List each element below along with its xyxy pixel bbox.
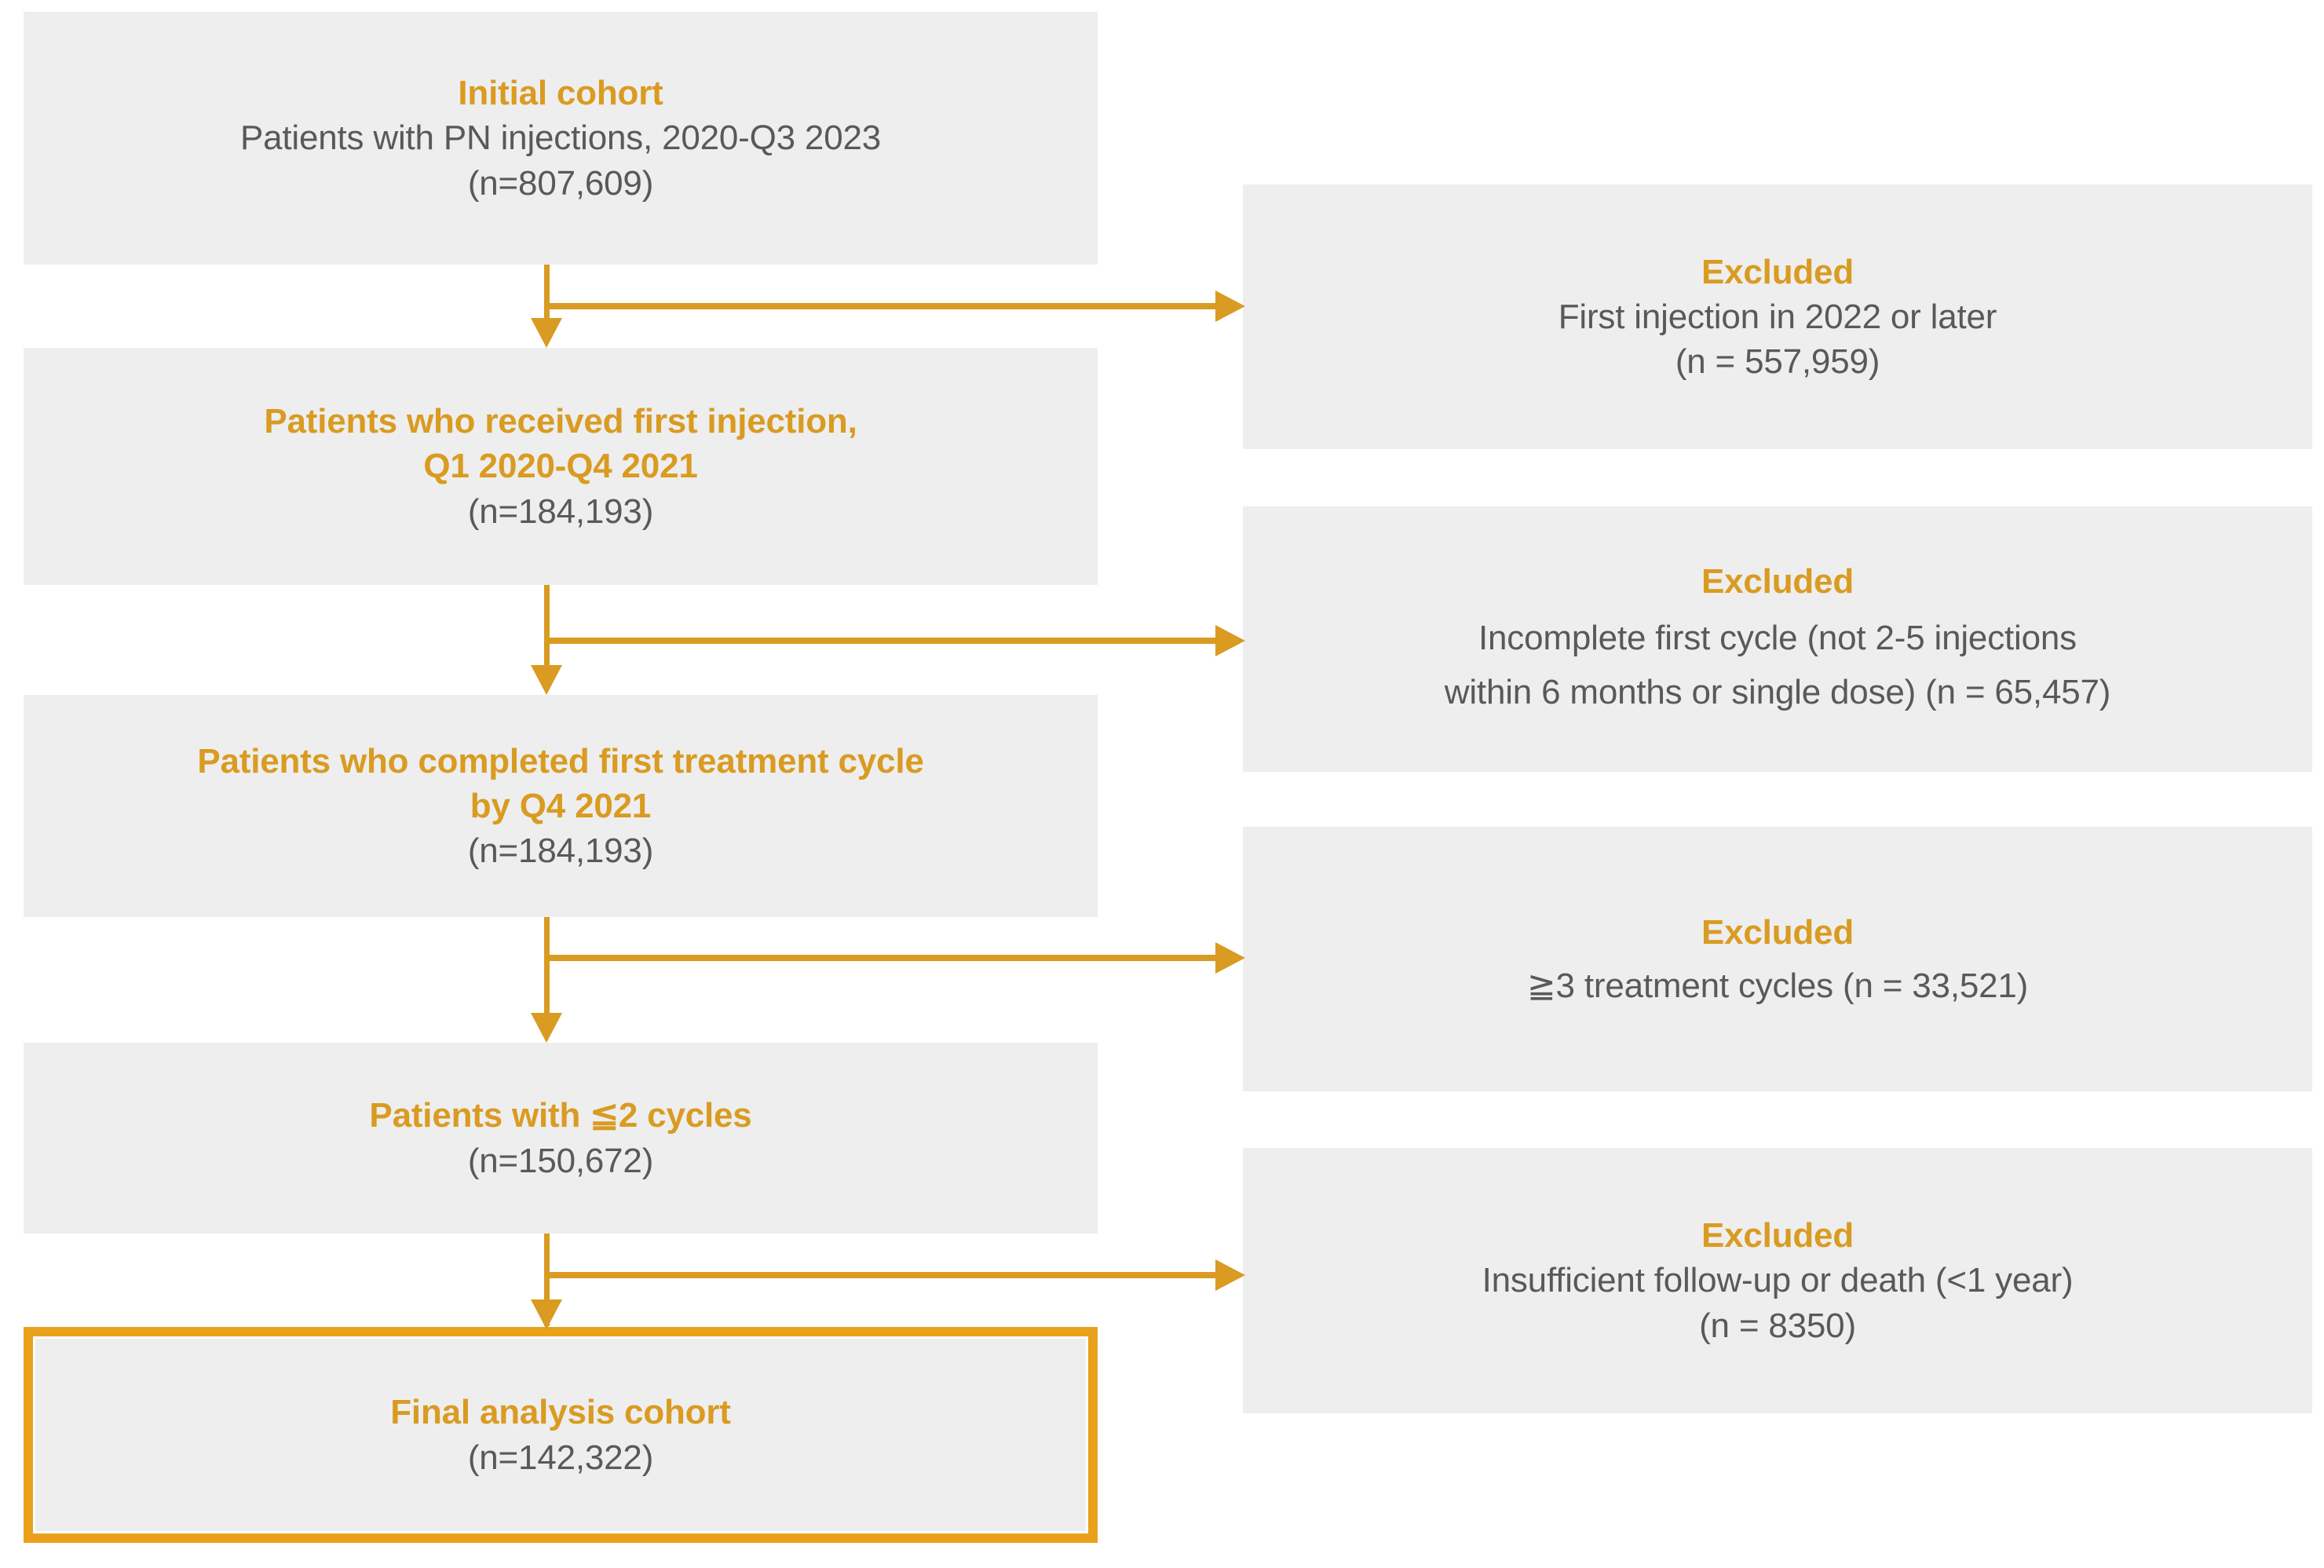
exclusion-reason: ≧3 treatment cycles (n = 33,521) [1527, 963, 2028, 1008]
connector-arrowhead-right-4 [1215, 1259, 1245, 1291]
node-title: Initial cohort [458, 71, 663, 115]
connector-vline-3 [544, 917, 550, 1015]
exclusion-title: Excluded [1701, 1213, 1854, 1258]
connector-arrowhead-right-2 [1215, 625, 1245, 656]
connector-arrowhead-right-1 [1215, 291, 1245, 322]
flow-diagram-canvas: Initial cohort Patients with PN injectio… [0, 0, 2324, 1568]
exclusion-reason: Incomplete first cycle (not 2-5 injectio… [1445, 612, 2110, 718]
connector-arrowhead-right-3 [1215, 942, 1245, 974]
node-first-injection: Patients who received first injection, Q… [24, 348, 1098, 585]
node-excluded-insufficient-followup: Excluded Insufficient follow-up or death… [1243, 1148, 2312, 1413]
node-title: Final analysis cohort [390, 1390, 730, 1435]
node-excluded-first-injection-2022: Excluded First injection in 2022 or late… [1243, 185, 2312, 449]
node-count: (n=184,193) [468, 489, 653, 534]
node-title: Patients who received first injection, Q… [264, 399, 857, 488]
exclusion-title: Excluded [1701, 910, 1854, 955]
node-count: (n=807,609) [468, 161, 653, 206]
exclusion-title: Excluded [1701, 559, 1854, 604]
connector-arrowhead-down-1 [531, 318, 562, 348]
node-count: (n=150,672) [468, 1139, 653, 1183]
connector-hline-1 [544, 303, 1221, 309]
node-detail: Patients with PN injections, 2020-Q3 202… [240, 115, 881, 160]
node-excluded-three-or-more-cycles: Excluded ≧3 treatment cycles (n = 33,521… [1243, 827, 2312, 1091]
connector-vline-2 [544, 585, 550, 671]
node-two-or-fewer-cycles: Patients with ≦2 cycles (n=150,672) [24, 1043, 1098, 1234]
node-count: (n=142,322) [468, 1435, 653, 1480]
exclusion-title: Excluded [1701, 250, 1854, 294]
node-completed-first-cycle: Patients who completed first treatment c… [24, 695, 1098, 917]
exclusion-reason: First injection in 2022 or later [1558, 294, 1997, 339]
exclusion-reason: Insufficient follow-up or death (<1 year… [1482, 1258, 2074, 1303]
connector-hline-2 [544, 638, 1221, 644]
node-title: Patients who completed first treatment c… [197, 739, 923, 828]
node-excluded-incomplete-cycle: Excluded Incomplete first cycle (not 2-5… [1243, 506, 2312, 772]
connector-arrowhead-down-2 [531, 665, 562, 695]
node-count: (n=184,193) [468, 828, 653, 873]
node-initial-cohort: Initial cohort Patients with PN injectio… [24, 12, 1098, 265]
connector-arrowhead-down-4 [531, 1299, 562, 1329]
connector-arrowhead-down-3 [531, 1013, 562, 1043]
node-final-analysis-cohort: Final analysis cohort (n=142,322) [24, 1327, 1098, 1543]
connector-hline-4 [544, 1272, 1221, 1278]
connector-hline-3 [544, 955, 1221, 961]
connector-vline-1 [544, 265, 550, 321]
exclusion-count: (n = 557,959) [1675, 339, 1880, 384]
exclusion-count: (n = 8350) [1699, 1303, 1856, 1348]
node-title: Patients with ≦2 cycles [369, 1093, 751, 1138]
